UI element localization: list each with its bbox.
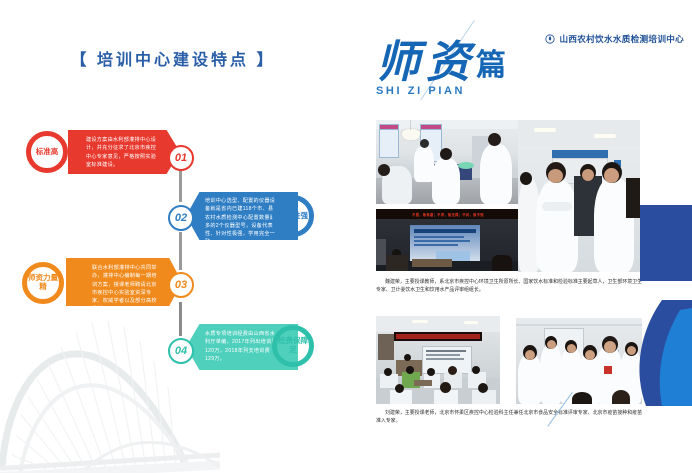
feature-label-standard: 标准高 bbox=[26, 131, 68, 173]
feature-text: 建设方案由水利部灌排中心设计，并充分征求了北京市疾控中心专家意见，严格按照实验室… bbox=[86, 136, 158, 169]
feature-label-faculty: 师资力量精 bbox=[22, 262, 64, 304]
faculty-caption-2: 刘建荣，主要授课老师，北京市怀柔区疾控中心检验科主任兼任北京市食品安全标准评审专… bbox=[376, 410, 642, 426]
lecture-hall-photo: 不思，故有惑；不求，故无得；不问，故不知 bbox=[376, 209, 520, 271]
page-title: 【 培训中心建设特点 】 bbox=[0, 46, 346, 70]
led-banner: 不思，故有惑；不求，故无得；不问，故不知 bbox=[376, 209, 520, 219]
section-title-bold: 篇 bbox=[476, 40, 506, 84]
feature-banner-standard: 建设方案由水利部灌排中心设计，并充分征求了北京市疾控中心专家意见，严格按照实验室… bbox=[68, 130, 180, 174]
timeline-node-02: 02 bbox=[168, 205, 194, 231]
classroom-training-photo bbox=[376, 316, 500, 404]
section-title-calligraphy: 师资 bbox=[376, 42, 476, 84]
feature-text: 联合水利部灌排中心共同举办，灌排中心编制每一期培训方案，授课老师聘请北京市疾控中… bbox=[92, 264, 160, 314]
feature-banner-faculty: 联合水利部灌排中心共同举办，灌排中心编制每一期培训方案，授课老师聘请北京市疾控中… bbox=[66, 258, 182, 306]
feature-text: 培训中心选型、配置的仪器设备就是省内已建118个市、县农村水质检测中心配置数量最… bbox=[205, 197, 277, 247]
timeline-node-03: 03 bbox=[168, 272, 194, 298]
group-lab-photo bbox=[516, 318, 642, 404]
navy-swoosh-decoration bbox=[632, 300, 692, 406]
brand-name: 山西农村饮水水质检测培训中心 bbox=[559, 33, 684, 45]
photo-content bbox=[376, 316, 500, 404]
feature-text: 水质专项培训经费由山西省水利厅单编，2017年列出培训费120万，2018年列支… bbox=[205, 330, 277, 363]
section-title-pinyin: SHI ZI PIAN bbox=[376, 85, 506, 97]
timeline-connector bbox=[179, 302, 182, 336]
photo-content bbox=[516, 318, 642, 404]
brand-lockup: 山西农村饮水水质检测培训中心 bbox=[545, 33, 684, 45]
features-panel: 【 培训中心建设特点 】 建设方案由水利部灌排中心设计，并充分征求了北京市疾控中… bbox=[0, 0, 366, 473]
timeline-connector bbox=[179, 170, 182, 202]
feature-label-applicability: 适用性强 bbox=[272, 195, 314, 237]
photo-content bbox=[518, 120, 640, 272]
timeline-node-01: 01 bbox=[168, 145, 194, 171]
photo-content: 不思，故有惑；不求，故无得；不问，故不知 bbox=[376, 209, 520, 271]
poster-page: 【 培训中心建设特点 】 建设方案由水利部灌排中心设计，并充分征求了北京市疾控中… bbox=[0, 0, 692, 473]
lab-instruction-photo bbox=[376, 120, 520, 204]
timeline-node-04: 04 bbox=[168, 338, 194, 364]
lab-discussion-photo bbox=[518, 120, 640, 272]
section-title: 师资 篇 SHI ZI PIAN bbox=[376, 40, 506, 97]
photo-content bbox=[376, 120, 520, 204]
faculty-panel: 山西农村饮水水质检测培训中心 师资 篇 SHI ZI PIAN bbox=[366, 0, 692, 473]
faculty-caption-1: 魏建荣，主要授课教师，系北京市疾控中心环境卫生所原所长、国家饮水标准和检验标准主… bbox=[376, 279, 642, 295]
feature-label-funding: 经费保障足 bbox=[272, 325, 314, 367]
water-drop-logo-icon bbox=[545, 34, 555, 44]
navy-block-decoration bbox=[640, 205, 692, 281]
